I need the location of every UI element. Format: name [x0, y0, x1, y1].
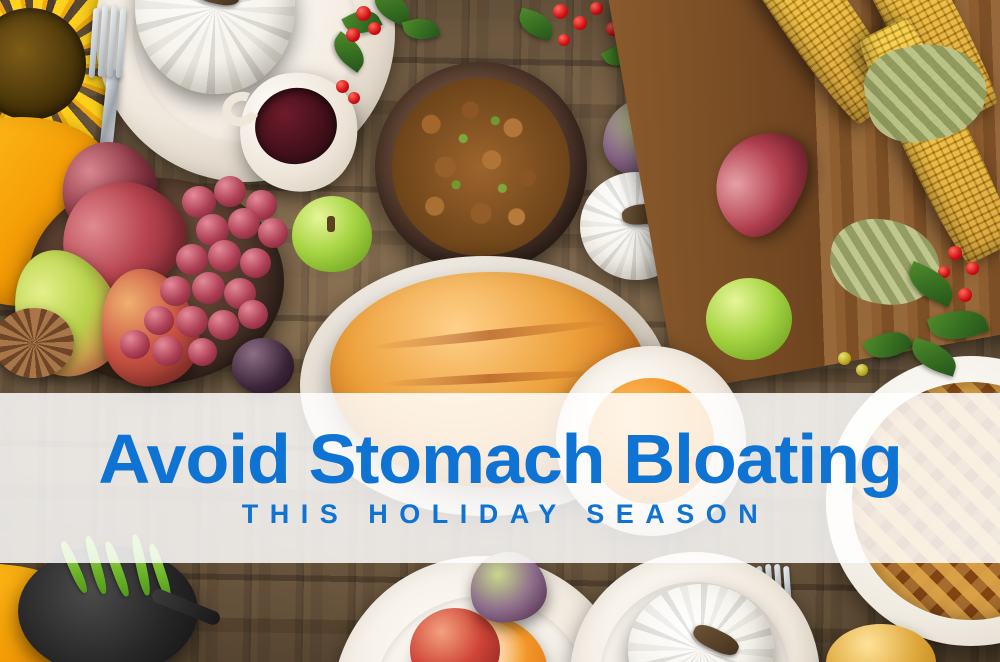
grape-icon: [192, 272, 225, 304]
grape-icon: [160, 276, 191, 306]
grape-icon: [152, 336, 183, 366]
berry-icon: [348, 92, 360, 104]
grape-icon: [144, 306, 174, 335]
grape-icon: [120, 330, 150, 359]
page-subtitle: THIS HOLIDAY SEASON: [231, 499, 770, 530]
berry-icon: [958, 288, 972, 302]
grape-icon: [240, 248, 271, 278]
grape-icon: [214, 176, 246, 207]
grape-icon: [238, 300, 268, 329]
berry-icon: [346, 28, 360, 42]
dark-plum-icon: [232, 338, 294, 394]
berry-icon: [558, 34, 570, 46]
grape-icon: [188, 338, 217, 366]
berry-icon: [948, 246, 962, 260]
berry-icon: [356, 6, 371, 21]
berry-icon: [336, 80, 349, 93]
grape-icon: [176, 244, 208, 275]
berry-icon: [966, 262, 979, 275]
berry-icon: [838, 352, 851, 365]
apple-stem-icon: [327, 216, 335, 232]
grape-icon: [208, 310, 239, 340]
page-title: Avoid Stomach Bloating: [98, 426, 901, 493]
berry-icon: [573, 16, 587, 30]
berry-icon: [856, 364, 868, 376]
green-apple-right-icon: [706, 278, 792, 360]
stuffing-food: [392, 78, 570, 256]
berry-icon: [590, 2, 603, 15]
text-overlay-band: Avoid Stomach Bloating THIS HOLIDAY SEAS…: [0, 393, 1000, 563]
banner-image: Avoid Stomach Bloating THIS HOLIDAY SEAS…: [0, 0, 1000, 662]
grape-icon: [208, 240, 241, 272]
grape-icon: [258, 218, 288, 248]
grape-icon: [228, 208, 260, 239]
grape-icon: [176, 306, 208, 337]
berry-icon: [368, 22, 381, 35]
green-apple-icon: [292, 196, 372, 272]
berry-icon: [553, 4, 568, 19]
